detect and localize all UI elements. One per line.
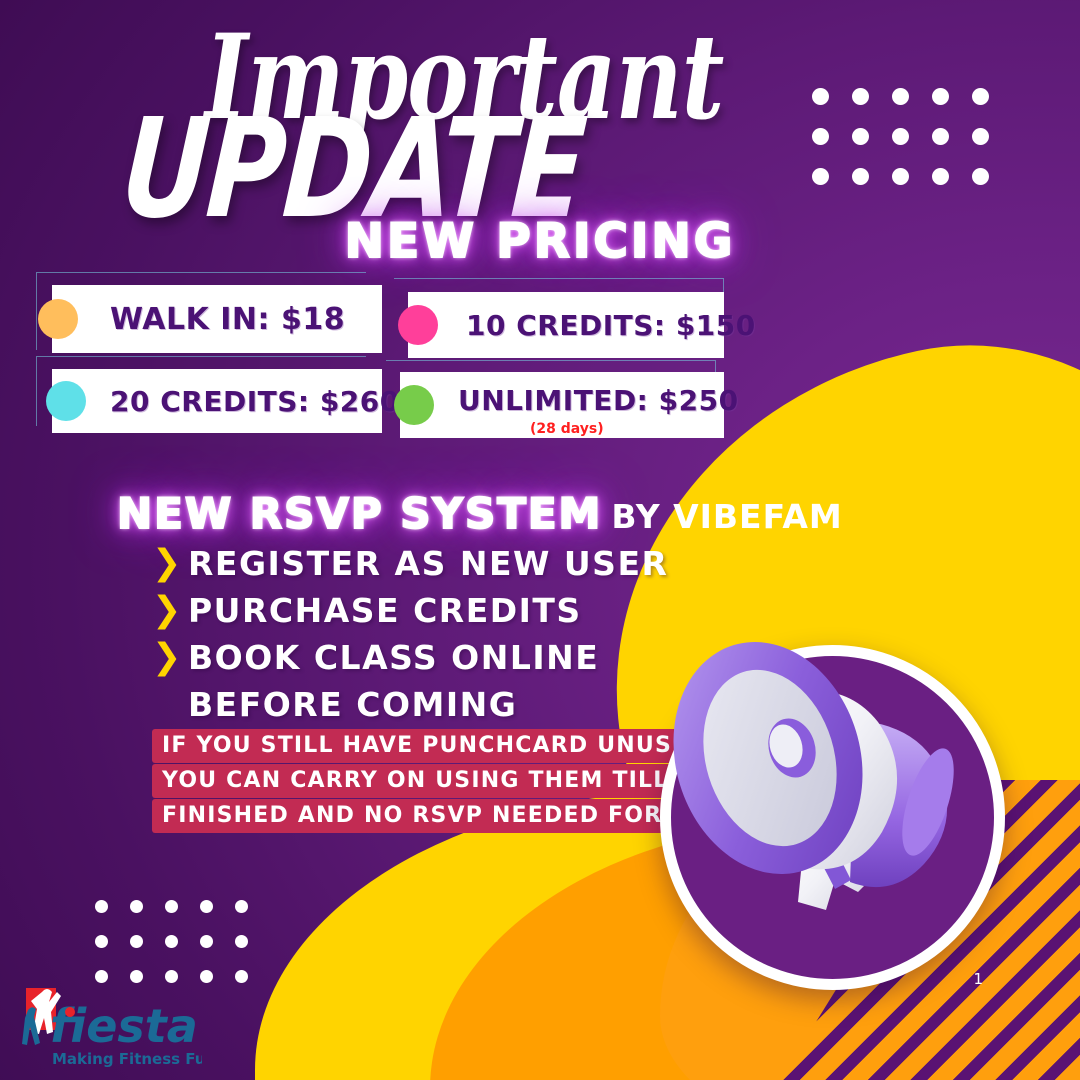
price-card-label: 10 CREDITS: $150 (466, 309, 756, 342)
chevron-right-icon: ❯ (152, 546, 174, 581)
megaphone-illustration (660, 645, 1005, 990)
chevron-right-icon: ❯ (152, 640, 174, 675)
new-pricing-heading: NEW PRICING (0, 214, 1080, 269)
card-dot-icon (46, 381, 86, 421)
poster-header: Important UPDATE (0, 0, 1080, 210)
rsvp-step-continuation: BEFORE COMING (188, 681, 668, 728)
rsvp-step-label: PURCHASE CREDITS (188, 591, 582, 630)
price-card-20-credits[interactable]: 20 CREDITS: $260 (52, 369, 382, 433)
pricing-cards-section: WALK IN: $18 10 CREDITS: $150 20 CREDITS… (0, 272, 1080, 452)
rsvp-heading: NEW RSVP SYSTEM (117, 489, 602, 538)
dot-grid-bottom-left (95, 900, 248, 983)
price-card-walk-in[interactable]: WALK IN: $18 (52, 285, 382, 353)
page-number: 1 (973, 970, 983, 988)
rsvp-steps-list: ❯ REGISTER AS NEW USER ❯ PURCHASE CREDIT… (152, 540, 668, 728)
svg-text:Making Fitness Fun: Making Fitness Fun (52, 1050, 202, 1068)
price-card-duration-note: (28 days) (530, 421, 604, 437)
chevron-right-icon: ❯ (152, 593, 174, 628)
price-card-10-credits[interactable]: 10 CREDITS: $150 (408, 292, 724, 358)
fiesta-logo: fiesta Making Fitness Fun (12, 986, 202, 1072)
price-card-unlimited[interactable]: UNLIMITED: $250 (28 days) (400, 372, 724, 438)
svg-text:fiesta: fiesta (50, 999, 198, 1053)
card-dot-icon (398, 305, 438, 345)
rsvp-step-item: ❯ REGISTER AS NEW USER (152, 540, 668, 587)
poster-canvas: Important UPDATE NEW PRICING WALK IN: $1… (0, 0, 1080, 1080)
price-card-label: WALK IN: $18 (110, 302, 345, 337)
rsvp-provider-label: BY VIBEFAM (611, 497, 842, 536)
megaphone-icon (620, 580, 1040, 980)
card-dot-icon (394, 385, 434, 425)
rsvp-step-item: ❯ PURCHASE CREDITS (152, 587, 668, 634)
note-line: YOU CAN CARRY ON USING THEM TILL (152, 764, 678, 798)
card-dot-icon (38, 299, 78, 339)
rsvp-step-item: ❯ BOOK CLASS ONLINE (152, 634, 668, 681)
rsvp-step-label: REGISTER AS NEW USER (188, 544, 668, 583)
price-card-label: UNLIMITED: $250 (458, 384, 739, 417)
rsvp-step-label: BOOK CLASS ONLINE (188, 638, 599, 677)
price-card-label: 20 CREDITS: $260 (110, 385, 400, 418)
rsvp-heading-row: NEW RSVP SYSTEM BY VIBEFAM (117, 489, 843, 538)
